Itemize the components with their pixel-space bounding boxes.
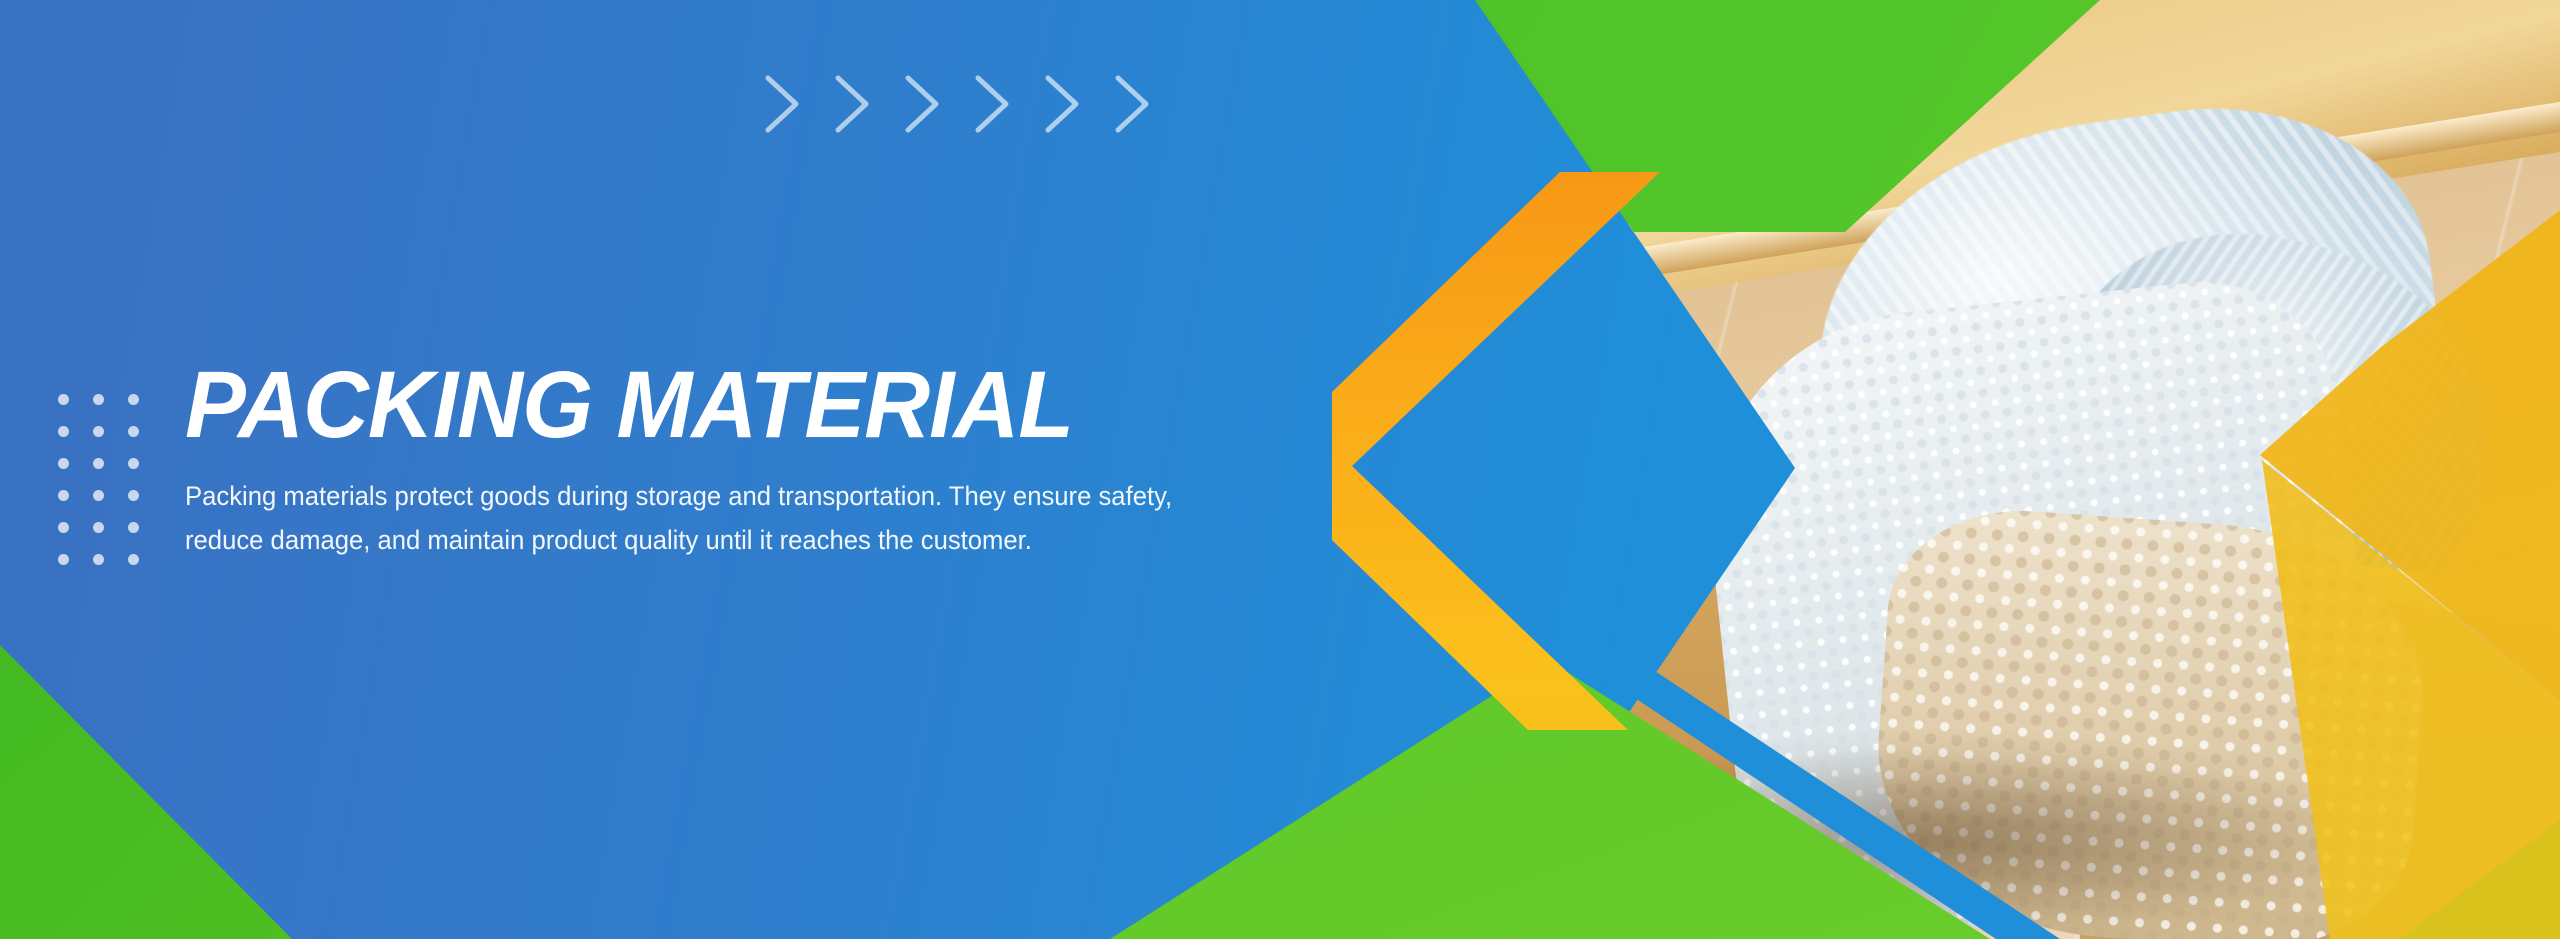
dot bbox=[93, 426, 104, 437]
dot bbox=[93, 458, 104, 469]
dot bbox=[93, 490, 104, 501]
banner-subtitle: Packing materials protect goods during s… bbox=[185, 475, 1254, 562]
dot-grid-icon bbox=[58, 394, 139, 565]
banner-copy: PACKING MATERIAL Packing materials prote… bbox=[185, 358, 1315, 562]
dot bbox=[128, 490, 139, 501]
dot bbox=[93, 394, 104, 405]
dot bbox=[58, 394, 69, 405]
dot bbox=[128, 426, 139, 437]
dot bbox=[58, 426, 69, 437]
dot bbox=[93, 554, 104, 565]
dot bbox=[58, 458, 69, 469]
dot bbox=[93, 522, 104, 533]
dot bbox=[128, 522, 139, 533]
dot bbox=[58, 490, 69, 501]
dot bbox=[58, 554, 69, 565]
packing-material-banner: PACKING MATERIAL Packing materials prote… bbox=[0, 0, 2560, 939]
dot bbox=[128, 554, 139, 565]
page-title: PACKING MATERIAL bbox=[185, 358, 1270, 453]
dot bbox=[58, 522, 69, 533]
dot bbox=[128, 394, 139, 405]
dot bbox=[128, 458, 139, 469]
